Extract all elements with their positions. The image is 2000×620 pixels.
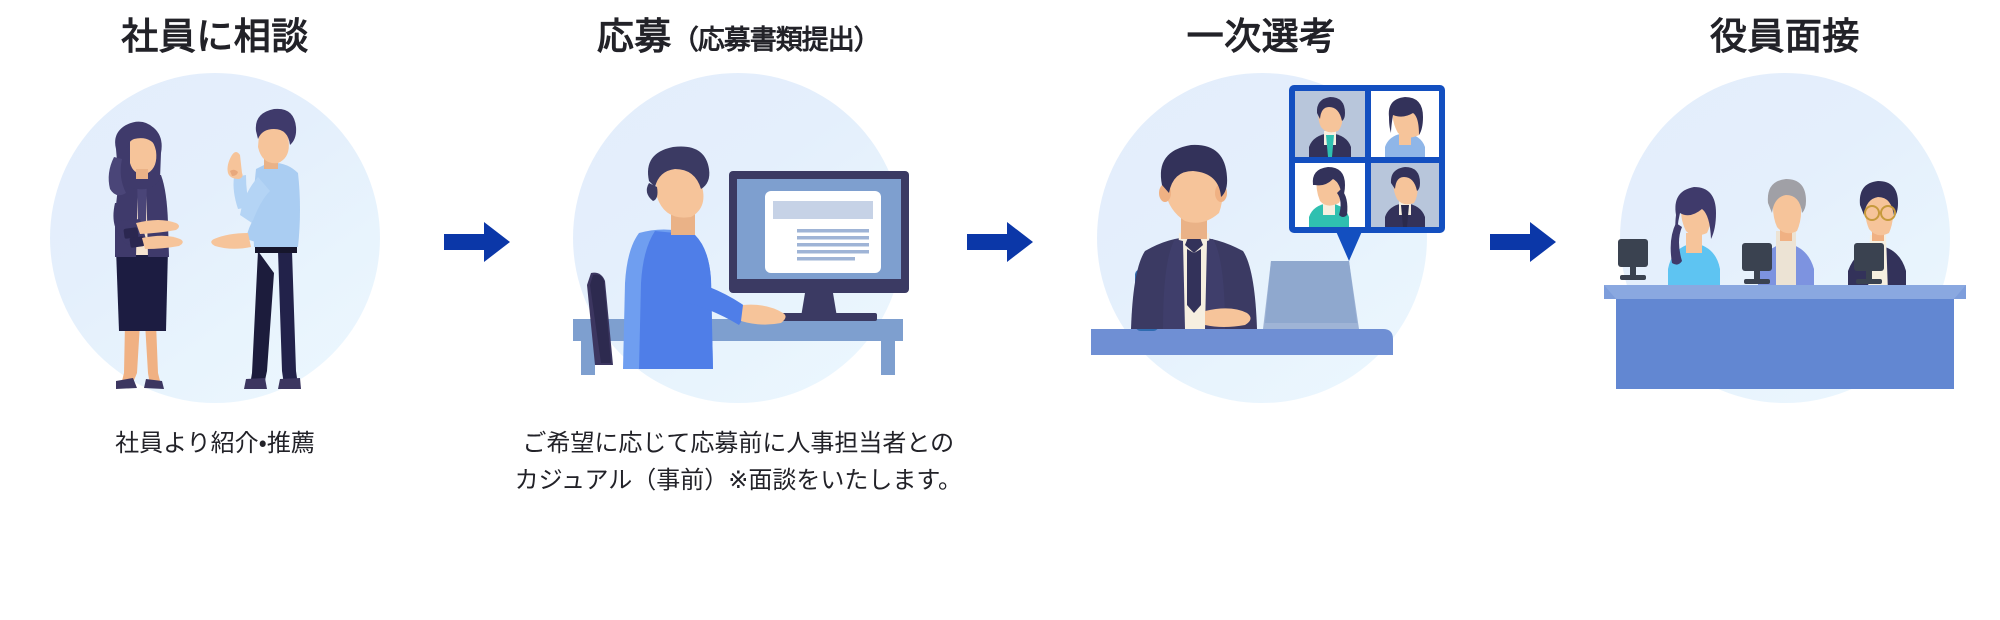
two-people-talking-illustration bbox=[20, 73, 410, 403]
interviewer-right bbox=[1848, 181, 1906, 293]
step-title: 社員に相談 bbox=[121, 18, 309, 55]
step-title: 一次選考 bbox=[1187, 18, 1337, 55]
arrow-right-icon bbox=[967, 222, 1033, 262]
step-first-screening: 一次選考 bbox=[1047, 0, 1477, 425]
arrow-2 bbox=[967, 222, 1033, 262]
step-caption: ご希望に応じて応募前に人事担当者との カジュアル（事前）※面談をいたします。 bbox=[515, 425, 962, 499]
online-video-interview-illustration bbox=[1067, 73, 1457, 403]
panel-of-three-interviewers-illustration bbox=[1590, 73, 1980, 403]
step-illustration-first-screening bbox=[1067, 73, 1457, 403]
step-title-sub: （応募書類提出） bbox=[672, 25, 880, 55]
caption-line: 社員より紹介・推薦 bbox=[115, 425, 315, 462]
step-consult: 社員に相談 bbox=[0, 0, 430, 462]
step-caption: 社員より紹介・推薦 bbox=[115, 425, 315, 462]
step-title-main: 一次選考 bbox=[1187, 16, 1337, 57]
step-title: 応募（応募書類提出） bbox=[597, 18, 880, 55]
participant-2 bbox=[1385, 97, 1425, 157]
woman-figure bbox=[109, 122, 183, 389]
step-title-main: 応募 bbox=[597, 16, 672, 57]
interviewer-center bbox=[1758, 179, 1814, 293]
step-apply: 応募（応募書類提出） bbox=[523, 0, 953, 499]
step-illustration-consult bbox=[20, 73, 410, 403]
arrow-right-icon bbox=[444, 222, 510, 262]
step-illustration-apply bbox=[543, 73, 933, 403]
video-call-grid bbox=[1289, 85, 1445, 261]
arrow-3 bbox=[1490, 222, 1556, 262]
recruitment-flow-diagram: 社員に相談 bbox=[0, 0, 2000, 620]
caption-line: ご希望に応じて応募前に人事担当者との bbox=[515, 425, 962, 462]
interviewer-left bbox=[1668, 187, 1720, 291]
step-executive-interview: 役員面接 bbox=[1570, 0, 2000, 425]
caption-line: カジュアル（事前）※面談をいたします。 bbox=[515, 462, 962, 499]
step-title-main: 役員面接 bbox=[1710, 16, 1860, 57]
arrow-right-icon bbox=[1490, 222, 1556, 262]
step-title: 役員面接 bbox=[1710, 18, 1860, 55]
arrow-1 bbox=[444, 222, 510, 262]
person-at-desktop-computer-illustration bbox=[543, 73, 933, 403]
step-title-main: 社員に相談 bbox=[121, 16, 309, 57]
desk-monitors bbox=[1618, 239, 1884, 284]
man-figure bbox=[211, 109, 301, 389]
step-illustration-executive-interview bbox=[1590, 73, 1980, 403]
